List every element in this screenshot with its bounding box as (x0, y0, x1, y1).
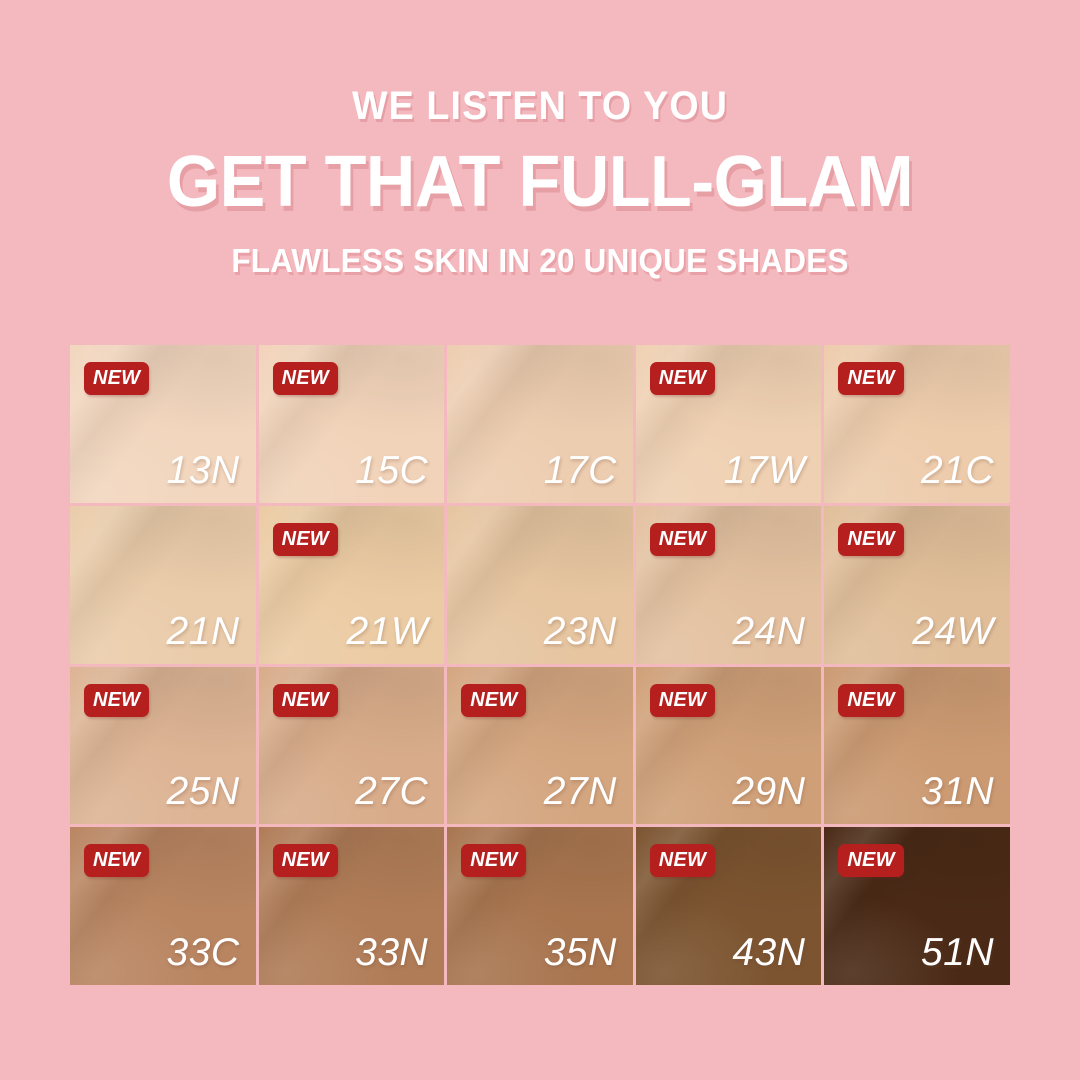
shade-swatch[interactable]: NEW24N (636, 506, 822, 664)
shade-code-label: 17W (724, 450, 806, 493)
shade-swatch[interactable]: NEW25N (70, 667, 256, 825)
new-badge: NEW (650, 362, 715, 395)
new-badge: NEW (273, 523, 338, 556)
shade-code-label: 33C (167, 932, 240, 975)
shade-code-label: 43N (732, 932, 805, 975)
shade-code-label: 27N (544, 771, 617, 814)
shade-swatch[interactable]: NEW21C (824, 345, 1010, 503)
shade-swatch[interactable]: NEW33C (70, 827, 256, 985)
new-badge: NEW (84, 844, 149, 877)
shade-swatch[interactable]: NEW35N (447, 827, 633, 985)
header-headline: GET THAT FULL-GLAM (27, 146, 1053, 218)
new-badge: NEW (650, 844, 715, 877)
new-badge: NEW (273, 684, 338, 717)
shade-code-label: 29N (732, 771, 805, 814)
shade-code-label: 25N (167, 771, 240, 814)
shade-code-label: 21C (921, 450, 994, 493)
shade-code-label: 13N (167, 450, 240, 493)
shade-swatch[interactable]: NEW17W (636, 345, 822, 503)
shade-swatch[interactable]: 21N (70, 506, 256, 664)
shade-code-label: 24N (732, 611, 805, 654)
shade-swatch[interactable]: NEW29N (636, 667, 822, 825)
header-subhead: FLAWLESS SKIN IN 20 UNIQUE SHADES (27, 244, 1053, 277)
shade-code-label: 17C (544, 450, 617, 493)
shade-code-label: 21N (167, 611, 240, 654)
new-badge: NEW (838, 523, 903, 556)
shade-swatch[interactable]: NEW21W (259, 506, 445, 664)
shade-swatch[interactable]: NEW27C (259, 667, 445, 825)
new-badge: NEW (84, 684, 149, 717)
shade-code-label: 51N (921, 932, 994, 975)
shade-code-label: 33N (355, 932, 428, 975)
new-badge: NEW (461, 844, 526, 877)
shade-code-label: 31N (921, 771, 994, 814)
shade-swatch[interactable]: NEW24W (824, 506, 1010, 664)
new-badge: NEW (84, 362, 149, 395)
shade-code-label: 21W (346, 611, 428, 654)
shade-code-label: 27C (355, 771, 428, 814)
shade-code-label: 35N (544, 932, 617, 975)
shade-swatch[interactable]: NEW15C (259, 345, 445, 503)
shade-swatch[interactable]: 17C (447, 345, 633, 503)
new-badge: NEW (650, 684, 715, 717)
shade-swatch[interactable]: NEW27N (447, 667, 633, 825)
new-badge: NEW (273, 844, 338, 877)
new-badge: NEW (838, 362, 903, 395)
new-badge: NEW (838, 684, 903, 717)
shade-swatch[interactable]: NEW31N (824, 667, 1010, 825)
new-badge: NEW (461, 684, 526, 717)
new-badge: NEW (273, 362, 338, 395)
shade-swatch[interactable]: NEW51N (824, 827, 1010, 985)
new-badge: NEW (838, 844, 903, 877)
promo-header: WE LISTEN TO YOU GET THAT FULL-GLAM FLAW… (0, 0, 1080, 277)
shade-swatch[interactable]: NEW13N (70, 345, 256, 503)
new-badge: NEW (650, 523, 715, 556)
shade-code-label: 23N (544, 611, 617, 654)
header-kicker: WE LISTEN TO YOU (32, 86, 1047, 126)
shade-code-label: 15C (355, 450, 428, 493)
shade-code-label: 24W (912, 611, 994, 654)
shade-swatch[interactable]: NEW43N (636, 827, 822, 985)
shade-swatch[interactable]: NEW33N (259, 827, 445, 985)
shade-swatch-grid: NEW13NNEW15C17CNEW17WNEW21C21NNEW21W23NN… (70, 345, 1010, 985)
shade-swatch[interactable]: 23N (447, 506, 633, 664)
